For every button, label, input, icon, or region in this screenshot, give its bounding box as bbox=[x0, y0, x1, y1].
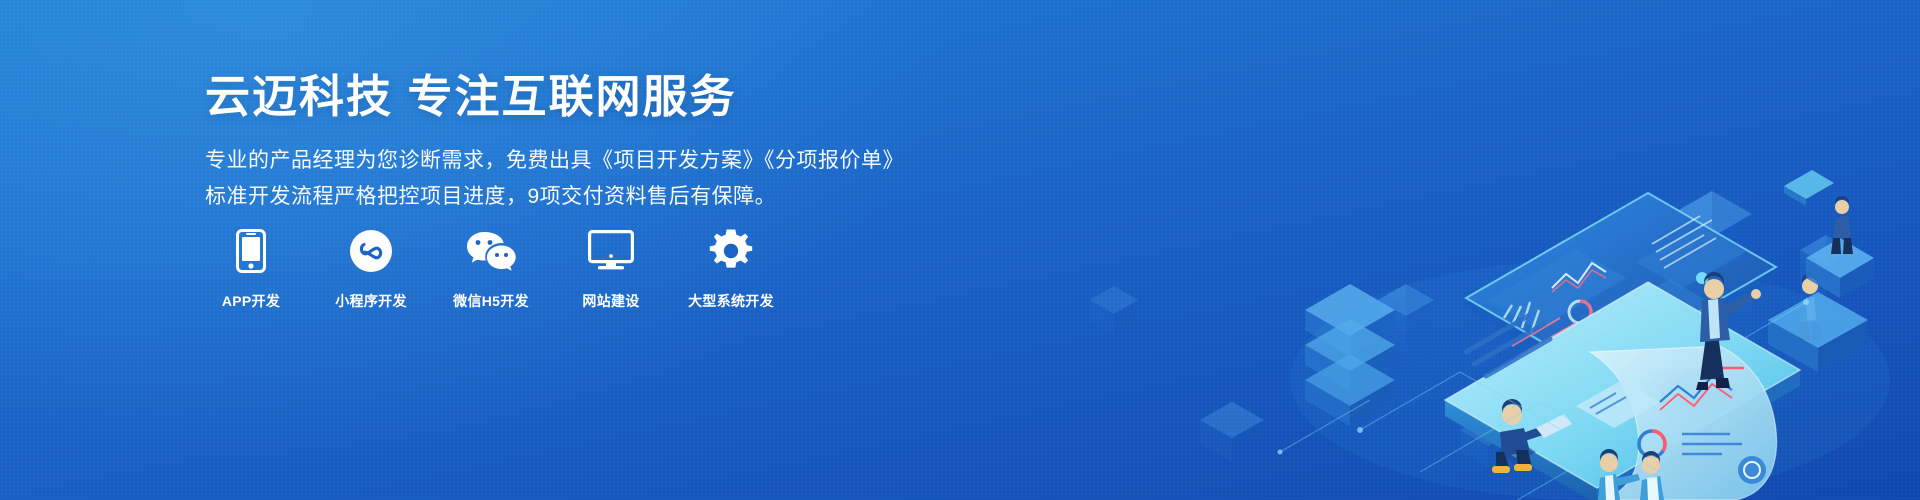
isometric-illustration bbox=[900, 0, 1920, 500]
service-label: 网站建设 bbox=[582, 291, 639, 311]
mini-program-icon bbox=[349, 228, 393, 274]
subtitle-line-2: 标准开发流程严格把控项目进度，9项交付资料售后有保障。 bbox=[205, 179, 904, 215]
service-label: APP开发 bbox=[222, 291, 280, 311]
service-label: 微信H5开发 bbox=[453, 291, 529, 311]
service-item-large-system[interactable]: 大型系统开发 bbox=[683, 228, 779, 311]
subtitle-line-1: 专业的产品经理为您诊断需求，免费出具《项目开发方案》《分项报价单》 bbox=[205, 143, 904, 179]
service-label: 小程序开发 bbox=[335, 291, 407, 311]
banner-subtitle: 专业的产品经理为您诊断需求，免费出具《项目开发方案》《分项报价单》 标准开发流程… bbox=[205, 143, 904, 215]
service-list: APP开发 小程序开发 bbox=[203, 228, 779, 311]
wechat-icon bbox=[465, 228, 517, 274]
page-title: 云迈科技 专注互联网服务 bbox=[205, 72, 737, 122]
small-screen bbox=[1784, 170, 1834, 206]
service-label: 大型系统开发 bbox=[688, 291, 774, 311]
service-item-app[interactable]: APP开发 bbox=[203, 228, 299, 311]
service-item-miniprogram[interactable]: 小程序开发 bbox=[323, 228, 419, 311]
service-item-website[interactable]: 网站建设 bbox=[563, 228, 659, 311]
gear-icon bbox=[709, 228, 753, 274]
hero-banner: 云迈科技 专注互联网服务 专业的产品经理为您诊断需求，免费出具《项目开发方案》《… bbox=[0, 0, 1920, 500]
iso-steps bbox=[1768, 170, 1874, 372]
service-item-wechat-h5[interactable]: 微信H5开发 bbox=[443, 228, 539, 311]
mobile-phone-icon bbox=[236, 228, 266, 274]
monitor-icon bbox=[588, 228, 634, 274]
